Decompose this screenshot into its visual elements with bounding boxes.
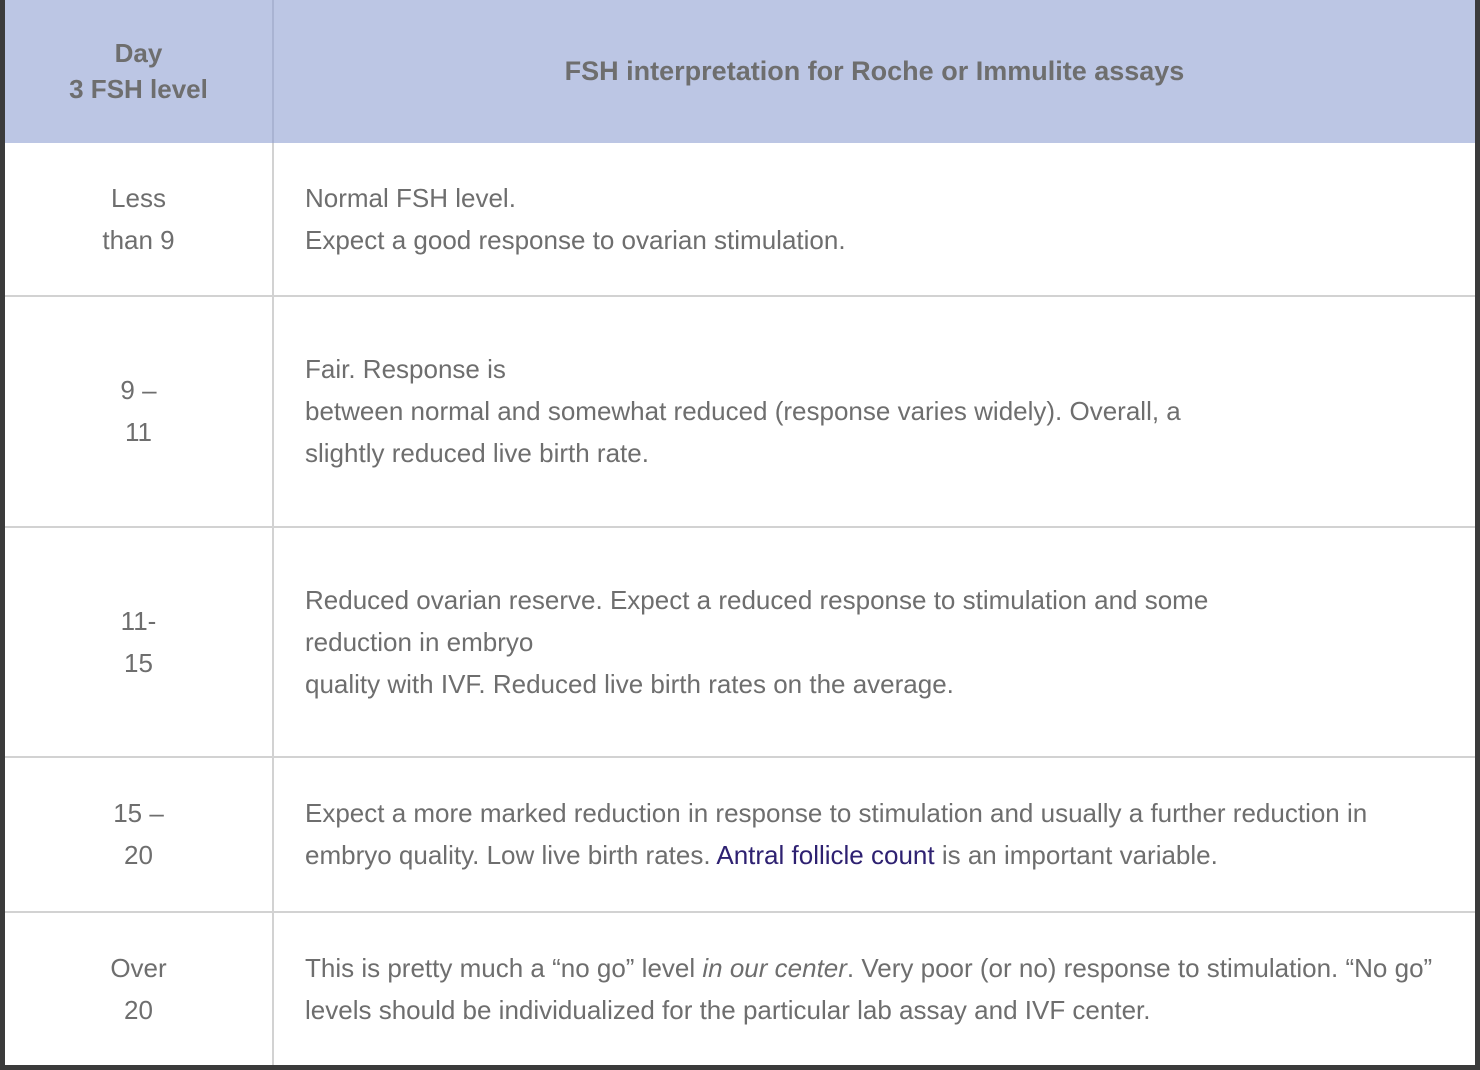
cell-fsh-level: Over 20 <box>5 912 273 1065</box>
interpretation-line: between normal and somewhat reduced (res… <box>305 390 1453 432</box>
table-row: 15 – 20 Expect a more marked reduction i… <box>5 757 1475 912</box>
table-row: 11- 15 Reduced ovarian reserve. Expect a… <box>5 527 1475 758</box>
table-row: Less than 9 Normal FSH level. Expect a g… <box>5 143 1475 296</box>
interpretation-line: quality with IVF. Reduced live birth rat… <box>305 663 1453 705</box>
cell-interpretation: Expect a more marked reduction in respon… <box>273 757 1475 912</box>
interpretation-paragraph: This is pretty much a “no go” level in o… <box>305 947 1453 1031</box>
interpretation-text-before-italic: This is pretty much a “no go” level <box>305 953 702 983</box>
column-header-line-1: Day <box>17 36 260 71</box>
table-row: 9 – 11 Fair. Response is between normal … <box>5 296 1475 527</box>
header-row: Day 3 FSH level FSH interpretation for R… <box>5 0 1475 143</box>
cell-interpretation: Normal FSH level. Expect a good response… <box>273 143 1475 296</box>
interpretation-text-after-link: is an important variable. <box>935 840 1218 870</box>
cell-fsh-level: 9 – 11 <box>5 296 273 527</box>
fsh-interpretation-table-container: Day 3 FSH level FSH interpretation for R… <box>0 0 1480 1070</box>
cell-interpretation: This is pretty much a “no go” level in o… <box>273 912 1475 1065</box>
antral-follicle-count-link[interactable]: Antral follicle count <box>716 840 934 870</box>
interpretation-line: slightly reduced live birth rate. <box>305 432 1453 474</box>
table-header: Day 3 FSH level FSH interpretation for R… <box>5 0 1475 143</box>
fsh-interpretation-table: Day 3 FSH level FSH interpretation for R… <box>5 0 1475 1065</box>
column-header-line-2: 3 FSH level <box>17 72 260 107</box>
cell-fsh-level: 15 – 20 <box>5 757 273 912</box>
interpretation-emphasis: in our center <box>702 953 847 983</box>
interpretation-line: Reduced ovarian reserve. Expect a reduce… <box>305 579 1453 621</box>
interpretation-line: Expect a good response to ovarian stimul… <box>305 219 1453 261</box>
cell-fsh-level: 11- 15 <box>5 527 273 758</box>
interpretation-line: Fair. Response is <box>305 348 1453 390</box>
interpretation-paragraph: Expect a more marked reduction in respon… <box>305 792 1453 876</box>
cell-interpretation: Reduced ovarian reserve. Expect a reduce… <box>273 527 1475 758</box>
cell-interpretation: Fair. Response is between normal and som… <box>273 296 1475 527</box>
interpretation-line: reduction in embryo <box>305 621 1453 663</box>
table-body: Less than 9 Normal FSH level. Expect a g… <box>5 143 1475 1065</box>
column-header-day3-fsh-level: Day 3 FSH level <box>5 0 273 143</box>
interpretation-line: Normal FSH level. <box>305 177 1453 219</box>
cell-fsh-level: Less than 9 <box>5 143 273 296</box>
column-header-fsh-interpretation: FSH interpretation for Roche or Immulite… <box>273 0 1475 143</box>
table-row: Over 20 This is pretty much a “no go” le… <box>5 912 1475 1065</box>
